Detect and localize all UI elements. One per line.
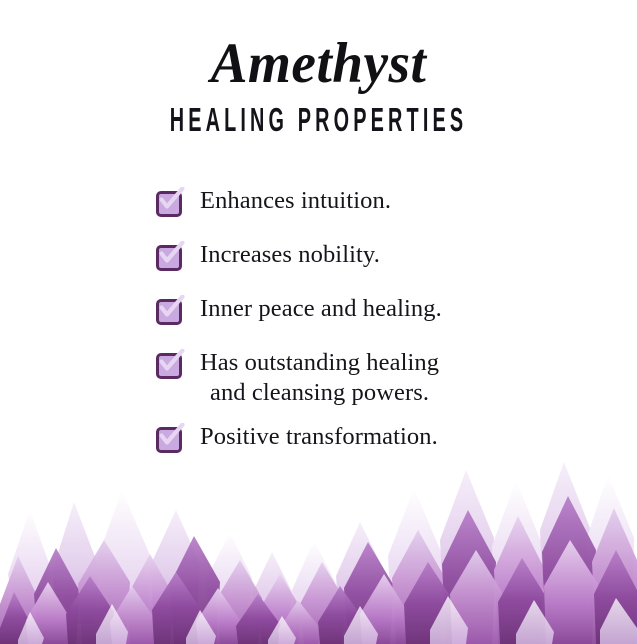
list-item: Increases nobility. <box>156 240 576 270</box>
checked-checkbox-icon <box>156 299 180 323</box>
list-item: Has outstanding healing and cleansing po… <box>156 348 576 408</box>
list-item-label: Enhances intuition. <box>200 186 391 216</box>
checkbox-box <box>156 191 182 217</box>
infographic-canvas: Amethyst HEALING PROPERTIES Enhances int… <box>0 0 637 644</box>
checkbox-box <box>156 245 182 271</box>
list-item-label: Has outstanding healing and cleansing po… <box>200 348 439 408</box>
checked-checkbox-icon <box>156 191 180 215</box>
page-title: Amethyst <box>10 34 628 94</box>
healing-properties-list: Enhances intuition. Increases nobility. <box>156 186 576 476</box>
checkbox-box <box>156 299 182 325</box>
list-item: Enhances intuition. <box>156 186 576 216</box>
amethyst-crystal-cluster-image <box>0 444 637 644</box>
list-item-label: Inner peace and healing. <box>200 294 442 324</box>
checked-checkbox-icon <box>156 245 180 269</box>
checkbox-box <box>156 353 182 379</box>
list-item-label: Increases nobility. <box>200 240 380 270</box>
header: Amethyst HEALING PROPERTIES <box>0 34 637 136</box>
page-subtitle: HEALING PROPERTIES <box>115 102 523 139</box>
list-item: Inner peace and healing. <box>156 294 576 324</box>
checked-checkbox-icon <box>156 353 180 377</box>
